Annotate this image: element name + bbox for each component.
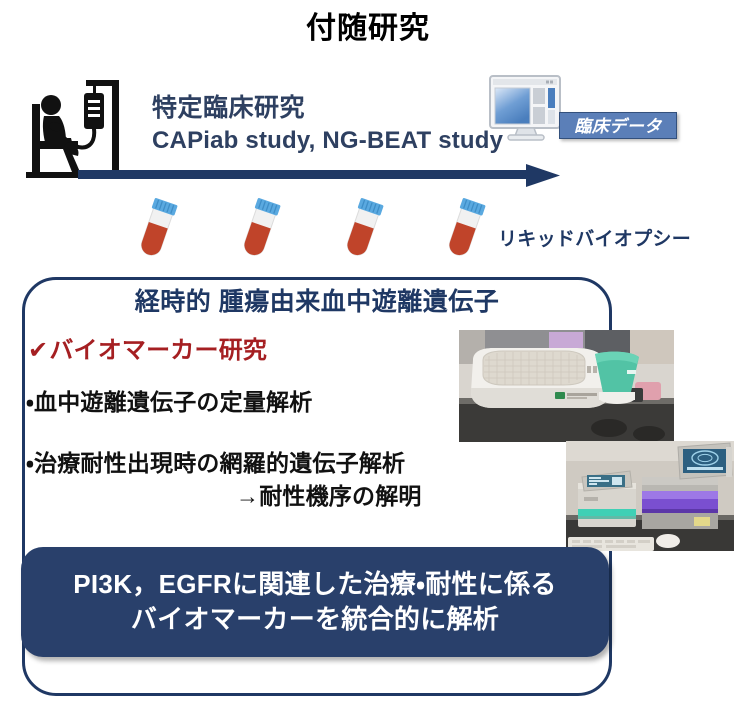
study-names-label: CAPiab study, NG-BEAT study — [152, 125, 503, 157]
clinical-data-tag: 臨床データ — [559, 112, 677, 139]
banner-line-2: バイオマーカーを統合的に解析 — [131, 602, 499, 637]
list-item: ・血中遊離遺伝子の定量解析 — [26, 383, 312, 417]
biomarker-research-label: バイオマーカー研究 — [49, 337, 267, 364]
check-icon: ✔ — [28, 336, 48, 365]
blood-collection-tube-icon — [234, 194, 286, 264]
liquid-biopsy-label: リキッドバイオプシー — [498, 224, 691, 251]
list-item: ・治療耐性出現時の網羅的遺伝子解析 — [26, 444, 405, 478]
blood-collection-tube-icon — [439, 194, 491, 264]
study-type-label: 特定臨床研究 — [152, 92, 503, 125]
study-label-group: 特定臨床研究 CAPiab study, NG-BEAT study — [152, 92, 503, 157]
next-generation-sequencer-photo — [566, 441, 734, 551]
summary-banner: PI3K，EGFRに関連した治療・耐性に係る バイオマーカーを統合的に解析 — [21, 547, 609, 657]
resistance-mechanism-result: →耐性機序の解明 — [236, 477, 422, 511]
blood-collection-tube-icon — [337, 194, 389, 264]
biomarker-research-heading: ✔バイオマーカー研究 — [28, 330, 267, 365]
computer-monitor-icon — [488, 74, 564, 142]
slide-canvas: 付随研究 — [0, 0, 736, 709]
banner-line-1: PI3K，EGFRに関連した治療・耐性に係る — [73, 567, 556, 602]
page-title: 付随研究 — [0, 3, 736, 47]
droplet-digital-pcr-photo — [459, 330, 674, 442]
blood-collection-tube-icon — [131, 194, 183, 264]
ctdna-box-title: 経時的 腫瘍由来血中遊離遺伝子 — [22, 282, 612, 318]
right-arrow-timeline — [78, 163, 560, 189]
